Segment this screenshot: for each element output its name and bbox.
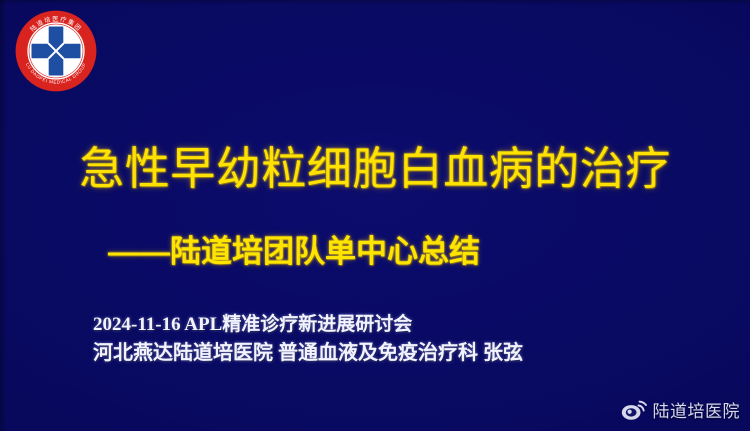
hospital-logo: 陆道培医疗集团 LU DAOPEI MEDICAL GROUP <box>13 8 99 94</box>
lu-daopei-logo-icon: 陆道培医疗集团 LU DAOPEI MEDICAL GROUP <box>13 8 99 94</box>
slide-title: 急性早幼粒细胞白血病的治疗 <box>0 146 750 191</box>
weibo-watermark: 陆道培医院 <box>621 397 741 422</box>
weibo-icon <box>621 399 647 421</box>
conference-line: 2024-11-16 APL精准诊疗新进展研讨会 <box>93 310 523 339</box>
presentation-slide: 陆道培医疗集团 LU DAOPEI MEDICAL GROUP 急性早幼粒细胞白… <box>0 0 750 431</box>
weibo-account-label: 陆道培医院 <box>653 397 741 422</box>
slide-meta: 2024-11-16 APL精准诊疗新进展研讨会 河北燕达陆道培医院 普通血液及… <box>93 310 523 368</box>
author-affiliation-line: 河北燕达陆道培医院 普通血液及免疫治疗科 张弦 <box>93 339 523 368</box>
slide-subtitle: ——陆道培团队单中心总结 <box>108 236 480 267</box>
